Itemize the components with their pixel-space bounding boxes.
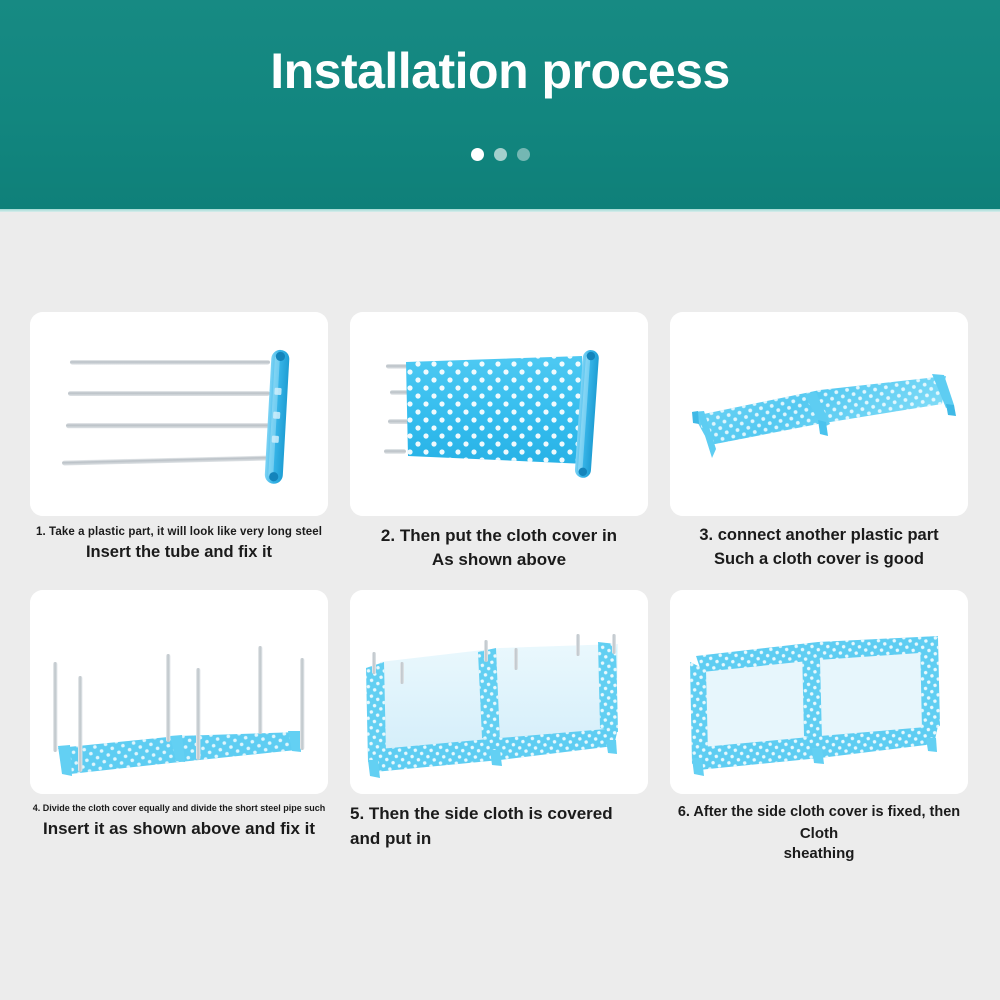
step-cell-5: 5. Then the side cloth is covered and pu… — [350, 590, 648, 863]
step-cell-2: 2. Then put the cloth cover in As shown … — [350, 312, 648, 571]
step-caption-2: 2. Then put the cloth cover in As shown … — [350, 525, 648, 571]
step-image-card-6[interactable] — [670, 590, 968, 794]
step-caption-1: 1. Take a plastic part, it will look lik… — [30, 525, 328, 564]
step-cell-1: 1. Take a plastic part, it will look lik… — [30, 312, 328, 571]
carousel-dot-1[interactable] — [471, 148, 484, 161]
step-caption-5-line2: and put in — [350, 828, 648, 850]
step-caption-5: 5. Then the side cloth is covered and pu… — [350, 803, 648, 849]
steps-row-1: 1. Take a plastic part, it will look lik… — [30, 312, 970, 571]
step-caption-4-line2: Insert it as shown above and fix it — [30, 818, 328, 840]
step-image-card-1[interactable] — [30, 312, 328, 516]
step-caption-1-line2: Insert the tube and fix it — [30, 542, 328, 563]
step-caption-6: 6. After the side cloth cover is fixed, … — [670, 803, 968, 863]
step-caption-4: 4. Divide the cloth cover equally and di… — [30, 803, 328, 839]
polka-dot-cloth-cover-on-tubes-illustration — [350, 312, 648, 516]
base-with-vertical-steel-posts-illustration — [30, 590, 328, 794]
step-cell-4: 4. Divide the cloth cover equally and di… — [30, 590, 328, 863]
step-cell-3: 3. connect another plastic part Such a c… — [670, 312, 968, 571]
step-image-card-3[interactable] — [670, 312, 968, 516]
step-caption-6-line1: 6. After the side cloth cover is fixed, … — [670, 803, 968, 821]
steps-row-2: 4. Divide the cloth cover equally and di… — [30, 590, 970, 863]
steel-tubes-with-plastic-connector-illustration — [30, 312, 328, 516]
carousel-dot-2[interactable] — [494, 148, 507, 161]
step-caption-1-line1: 1. Take a plastic part, it will look lik… — [30, 525, 328, 539]
page-title: Installation process — [0, 44, 1000, 99]
step-caption-3-line1: 3. connect another plastic part — [670, 525, 968, 546]
step-caption-6-line3: sheathing — [670, 844, 968, 864]
step-image-card-5[interactable] — [350, 590, 648, 794]
step-image-card-4[interactable] — [30, 590, 328, 794]
carousel-dots[interactable] — [0, 148, 1000, 161]
page-header: Installation process — [0, 0, 1000, 209]
two-connected-shelf-panels-illustration — [670, 312, 968, 516]
step-caption-4-line1: 4. Divide the cloth cover equally and di… — [30, 803, 328, 814]
step-caption-6-line2: Cloth — [670, 824, 968, 844]
step-caption-2-line1: 2. Then put the cloth cover in — [350, 525, 648, 546]
step-image-card-2[interactable] — [350, 312, 648, 516]
completed-cloth-wardrobe-illustration — [670, 590, 968, 794]
step-cell-6: 6. After the side cloth cover is fixed, … — [670, 590, 968, 863]
steps-grid: 1. Take a plastic part, it will look lik… — [0, 212, 1000, 1000]
side-cloth-panels-installed-illustration — [350, 590, 648, 794]
step-caption-3: 3. connect another plastic part Such a c… — [670, 525, 968, 570]
step-caption-5-line1: 5. Then the side cloth is covered — [350, 803, 648, 824]
step-caption-3-line2: Such a cloth cover is good — [670, 549, 968, 570]
step-caption-2-line2: As shown above — [350, 549, 648, 571]
carousel-dot-3[interactable] — [517, 148, 530, 161]
